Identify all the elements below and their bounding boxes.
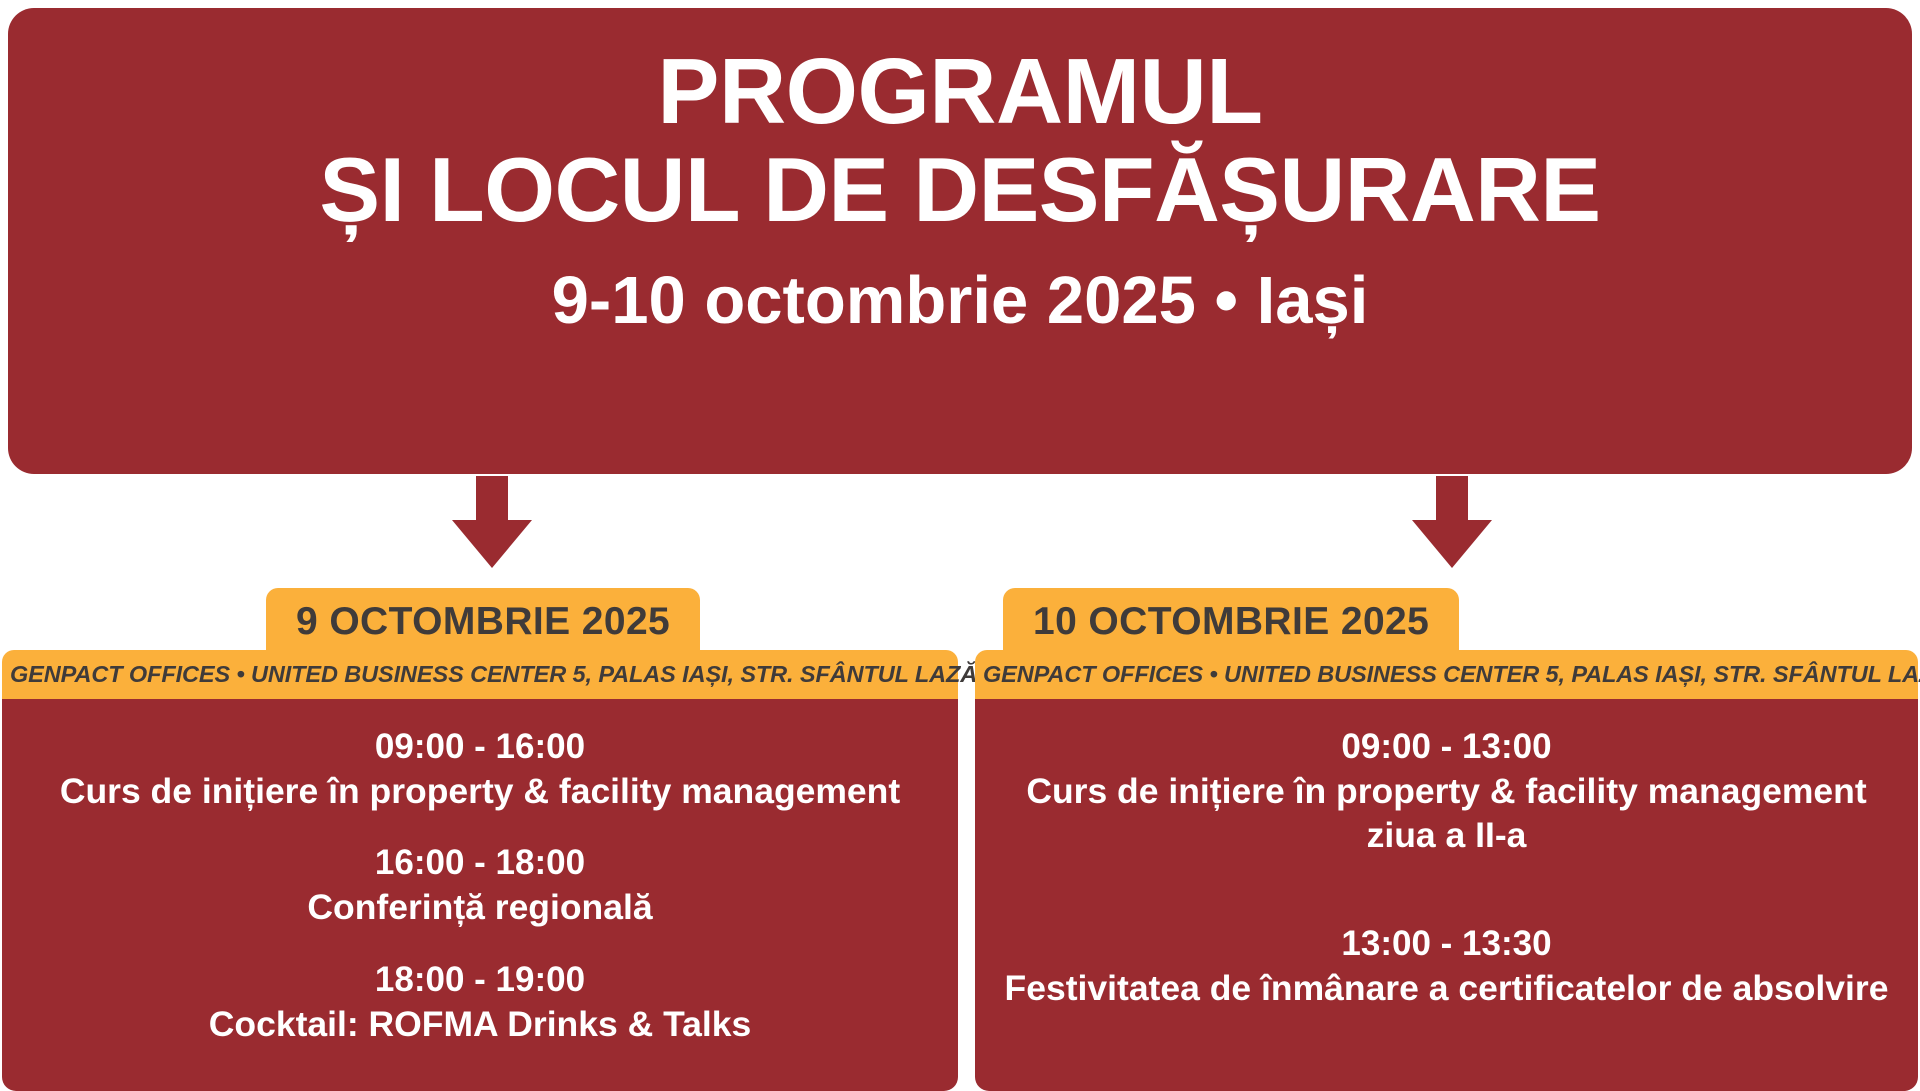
poster-header-banner: PROGRAMUL ȘI LOCUL DE DESFĂȘURARE 9-10 o… xyxy=(8,8,1912,474)
down-arrow-icon-day-1 xyxy=(452,476,532,568)
day-1-date-tab[interactable]: 9 OCTOMBRIE 2025 xyxy=(266,588,700,654)
day-2-tab-row: 10 OCTOMBRIE 2025 xyxy=(975,588,1918,650)
day-1-session-2-description: Conferință regională xyxy=(20,885,940,930)
day-1-session-3-time: 18:00 - 19:00 xyxy=(20,958,940,1002)
day-2-schedule-body: 09:00 - 13:00 Curs de inițiere în proper… xyxy=(975,699,1918,1091)
down-arrow-icon-day-2 xyxy=(1412,476,1492,568)
day-2-session-2-time: 13:00 - 13:30 xyxy=(993,922,1900,966)
day-2-session-2-description: Festivitatea de înmânare a certificatelo… xyxy=(993,966,1900,1011)
day-1-session-1-time: 09:00 - 16:00 xyxy=(20,725,940,769)
day-2-session-1-time: 09:00 - 13:00 xyxy=(993,725,1900,769)
day-1-session-1-description: Curs de inițiere în property & facility … xyxy=(20,769,940,814)
day-2-session-1-description: Curs de inițiere în property & facility … xyxy=(993,769,1900,858)
poster-canvas: PROGRAMUL ȘI LOCUL DE DESFĂȘURARE 9-10 o… xyxy=(0,0,1920,1080)
arrow-head xyxy=(452,520,532,568)
page-title-line-2: ȘI LOCUL DE DESFĂȘURARE xyxy=(319,142,1600,239)
day-1-venue-strip: GENPACT OFFICES • UNITED BUSINESS CENTER… xyxy=(2,650,958,699)
day-2-venue-strip: GENPACT OFFICES • UNITED BUSINESS CENTER… xyxy=(975,650,1918,699)
day-1-tab-row: 9 OCTOMBRIE 2025 xyxy=(2,588,958,650)
day-2-date-tab[interactable]: 10 OCTOMBRIE 2025 xyxy=(1003,588,1459,654)
session-spacer xyxy=(993,886,1900,922)
day-card-2: 10 OCTOMBRIE 2025 GENPACT OFFICES • UNIT… xyxy=(975,588,1918,1091)
day-1-session-3-description: Cocktail: ROFMA Drinks & Talks xyxy=(20,1002,940,1047)
arrow-stem xyxy=(1436,476,1468,524)
day-1-session-2-time: 16:00 - 18:00 xyxy=(20,841,940,885)
arrow-head xyxy=(1412,520,1492,568)
day-card-1: 9 OCTOMBRIE 2025 GENPACT OFFICES • UNITE… xyxy=(2,588,958,1091)
page-subtitle-date-location: 9-10 octombrie 2025 • Iași xyxy=(552,261,1369,341)
arrow-stem xyxy=(476,476,508,524)
day-1-schedule-body: 09:00 - 16:00 Curs de inițiere în proper… xyxy=(2,699,958,1091)
page-title-line-1: PROGRAMUL xyxy=(657,42,1262,142)
